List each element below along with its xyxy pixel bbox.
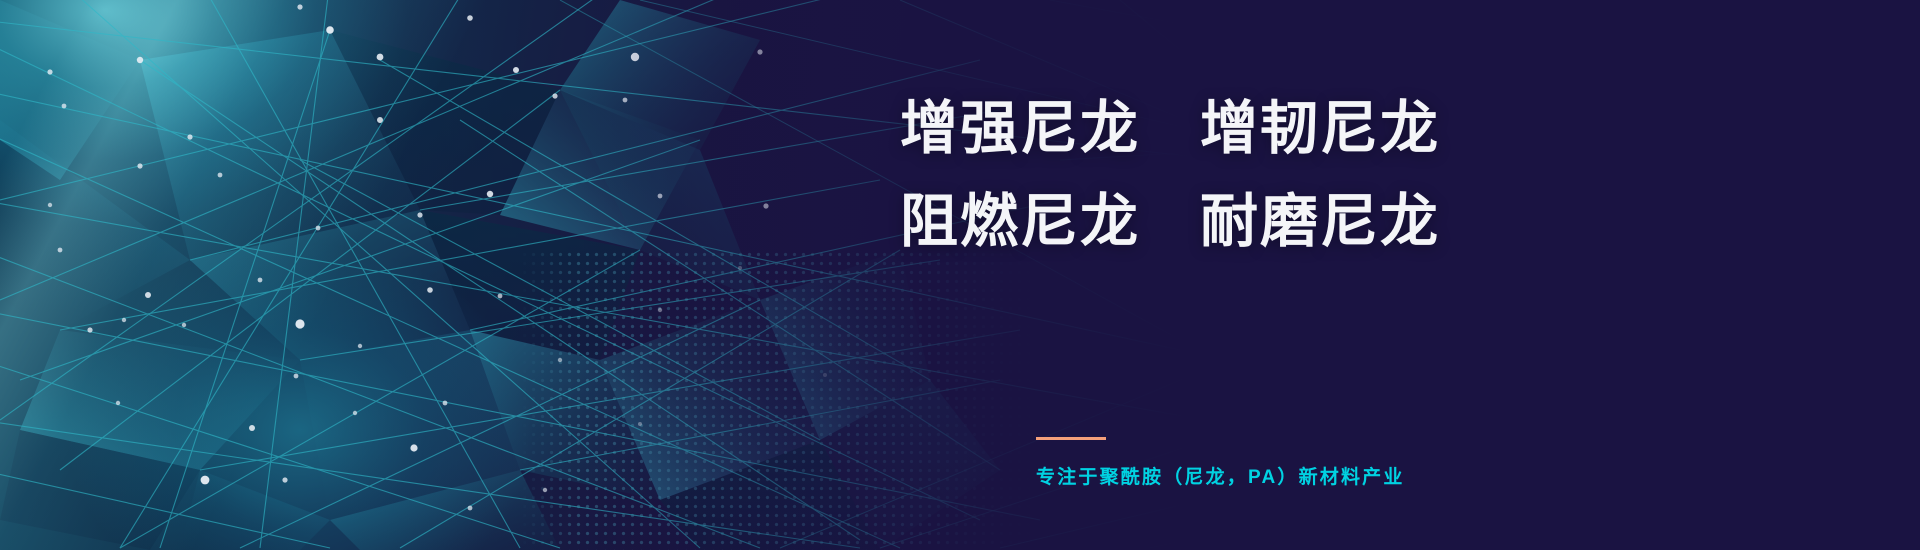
tagline-divider bbox=[1036, 437, 1106, 440]
tagline-text: 专注于聚酰胺（尼龙，PA）新材料产业 bbox=[1036, 462, 1405, 489]
hero-banner: 增强尼龙 增韧尼龙 阻燃尼龙 耐磨尼龙 专注于聚酰胺（尼龙，PA）新材料产业 bbox=[0, 0, 1920, 550]
headline-line-1: 增强尼龙 增韧尼龙 bbox=[900, 100, 1440, 158]
banner-content: 增强尼龙 增韧尼龙 阻燃尼龙 耐磨尼龙 专注于聚酰胺（尼龙，PA）新材料产业 bbox=[900, 0, 1920, 550]
headline-line-2: 阻燃尼龙 耐磨尼龙 bbox=[900, 193, 1440, 251]
